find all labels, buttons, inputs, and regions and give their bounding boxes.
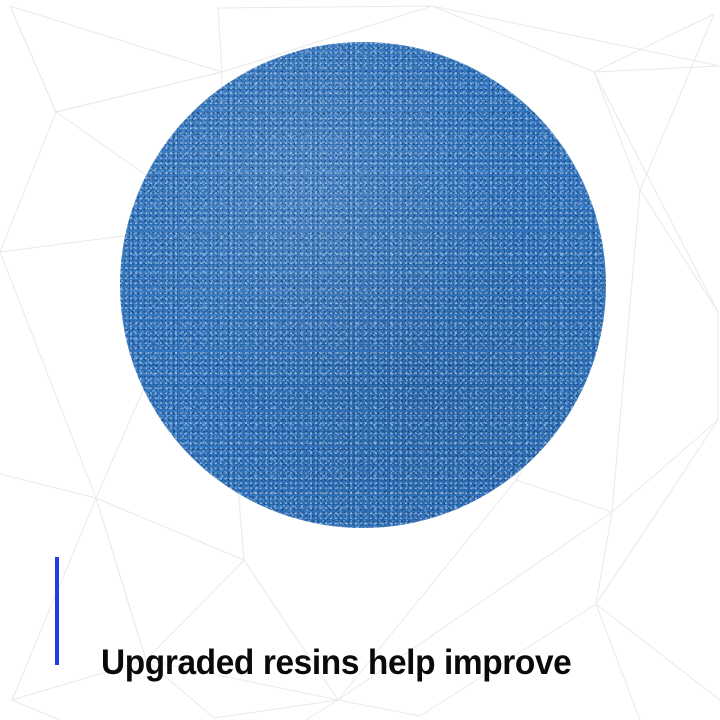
blue-accent-bar	[55, 557, 59, 665]
disc-edge-highlight	[120, 42, 606, 528]
caption-line-1: Upgraded resins help improve	[101, 640, 636, 686]
abrasive-sanding-disc	[120, 42, 606, 528]
caption-block: Upgraded resins help improve durability …	[0, 548, 720, 678]
product-disc-container	[120, 42, 606, 528]
caption-text: Upgraded resins help improve durability …	[101, 548, 636, 720]
product-feature-card: Upgraded resins help improve durability …	[0, 0, 720, 720]
